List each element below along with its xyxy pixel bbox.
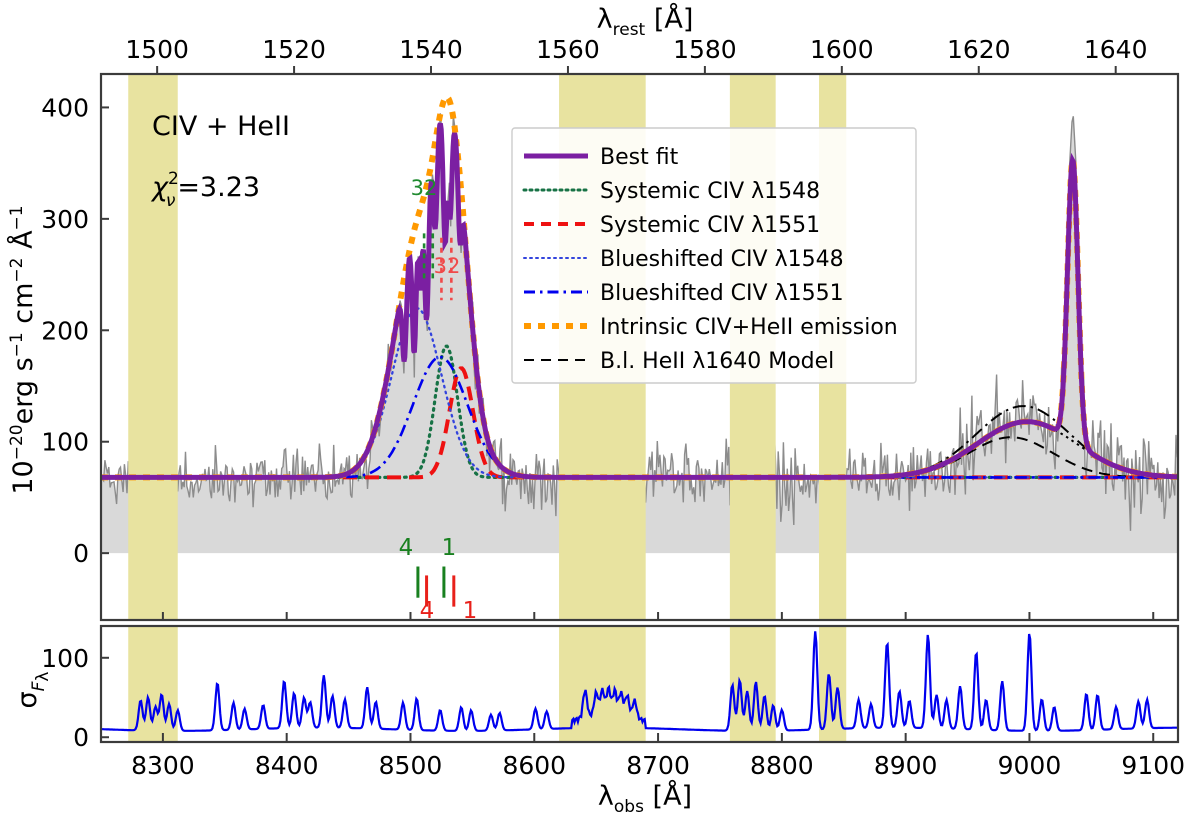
legend: Best fitSystemic CIV λ1548Systemic CIV λ… xyxy=(512,128,916,383)
err-y-tick-label: 0 xyxy=(73,723,89,752)
panel-title-annotation: CIV + HeII xyxy=(152,111,290,142)
err-y-tick-label: 100 xyxy=(41,644,89,673)
spectrum-figure: λrest [Å] 150015201540156015801600 xyxy=(0,0,1200,819)
chi-sub: ν xyxy=(166,191,176,211)
y-tick-label: 300 xyxy=(41,205,89,234)
bottom-tick-label: 9100 xyxy=(1121,751,1185,780)
y-tick-label: 400 xyxy=(41,93,89,122)
bottom-tick-label: 8800 xyxy=(750,751,814,780)
top-tick-label: 1560 xyxy=(536,35,600,64)
legend-label-3: Blueshifted CIV λ1548 xyxy=(600,247,844,272)
legend-label-5: Intrinsic CIV+HeII emission xyxy=(600,315,898,340)
legend-label-6: B.l. HeII λ1640 Model xyxy=(600,349,834,374)
legend-label-2: Systemic CIV λ1551 xyxy=(600,213,820,238)
y-tick-label: 0 xyxy=(73,539,89,568)
top-tick-label: 1500 xyxy=(125,35,189,64)
absorber-label-red-upper: 32 xyxy=(434,254,461,278)
legend-label-4: Blueshifted CIV λ1551 xyxy=(600,281,844,306)
top-tick-label: 1540 xyxy=(399,35,463,64)
absorber-label-green-upper: 32 xyxy=(411,176,438,200)
chi-value: =3.23 xyxy=(177,172,260,203)
bottom-tick-label: 8400 xyxy=(255,751,319,780)
absorber-label-green-lower-0: 4 xyxy=(399,535,414,561)
top-tick-label: 1620 xyxy=(947,35,1011,64)
legend-label-1: Systemic CIV λ1548 xyxy=(600,179,820,204)
bottom-tick-label: 8600 xyxy=(502,751,566,780)
top-tick-label: 1640 xyxy=(1084,35,1148,64)
absorber-label-green-lower-1: 1 xyxy=(442,535,457,561)
y-tick-label: 100 xyxy=(41,428,89,457)
top-tick-label: 1580 xyxy=(673,35,737,64)
y-tick-label: 200 xyxy=(41,316,89,345)
absorber-label-red-lower-0: 4 xyxy=(420,598,435,624)
figure-root: λrest [Å] 150015201540156015801600 xyxy=(0,0,1200,819)
bottom-tick-label: 8500 xyxy=(379,751,443,780)
masked-band-0 xyxy=(128,74,178,620)
legend-label-0: Best fit xyxy=(600,145,679,170)
bottom-tick-label: 9000 xyxy=(998,751,1062,780)
bottom-tick-label: 8900 xyxy=(874,751,938,780)
top-tick-label: 1520 xyxy=(262,35,326,64)
absorber-label-red-lower-1: 1 xyxy=(463,598,478,624)
top-tick-label: 1600 xyxy=(810,35,874,64)
masked-band-0 xyxy=(128,626,178,742)
bottom-axis-label: λobs [Å] xyxy=(598,780,692,817)
bottom-tick-label: 8300 xyxy=(131,751,195,780)
bottom-tick-label: 8700 xyxy=(626,751,690,780)
